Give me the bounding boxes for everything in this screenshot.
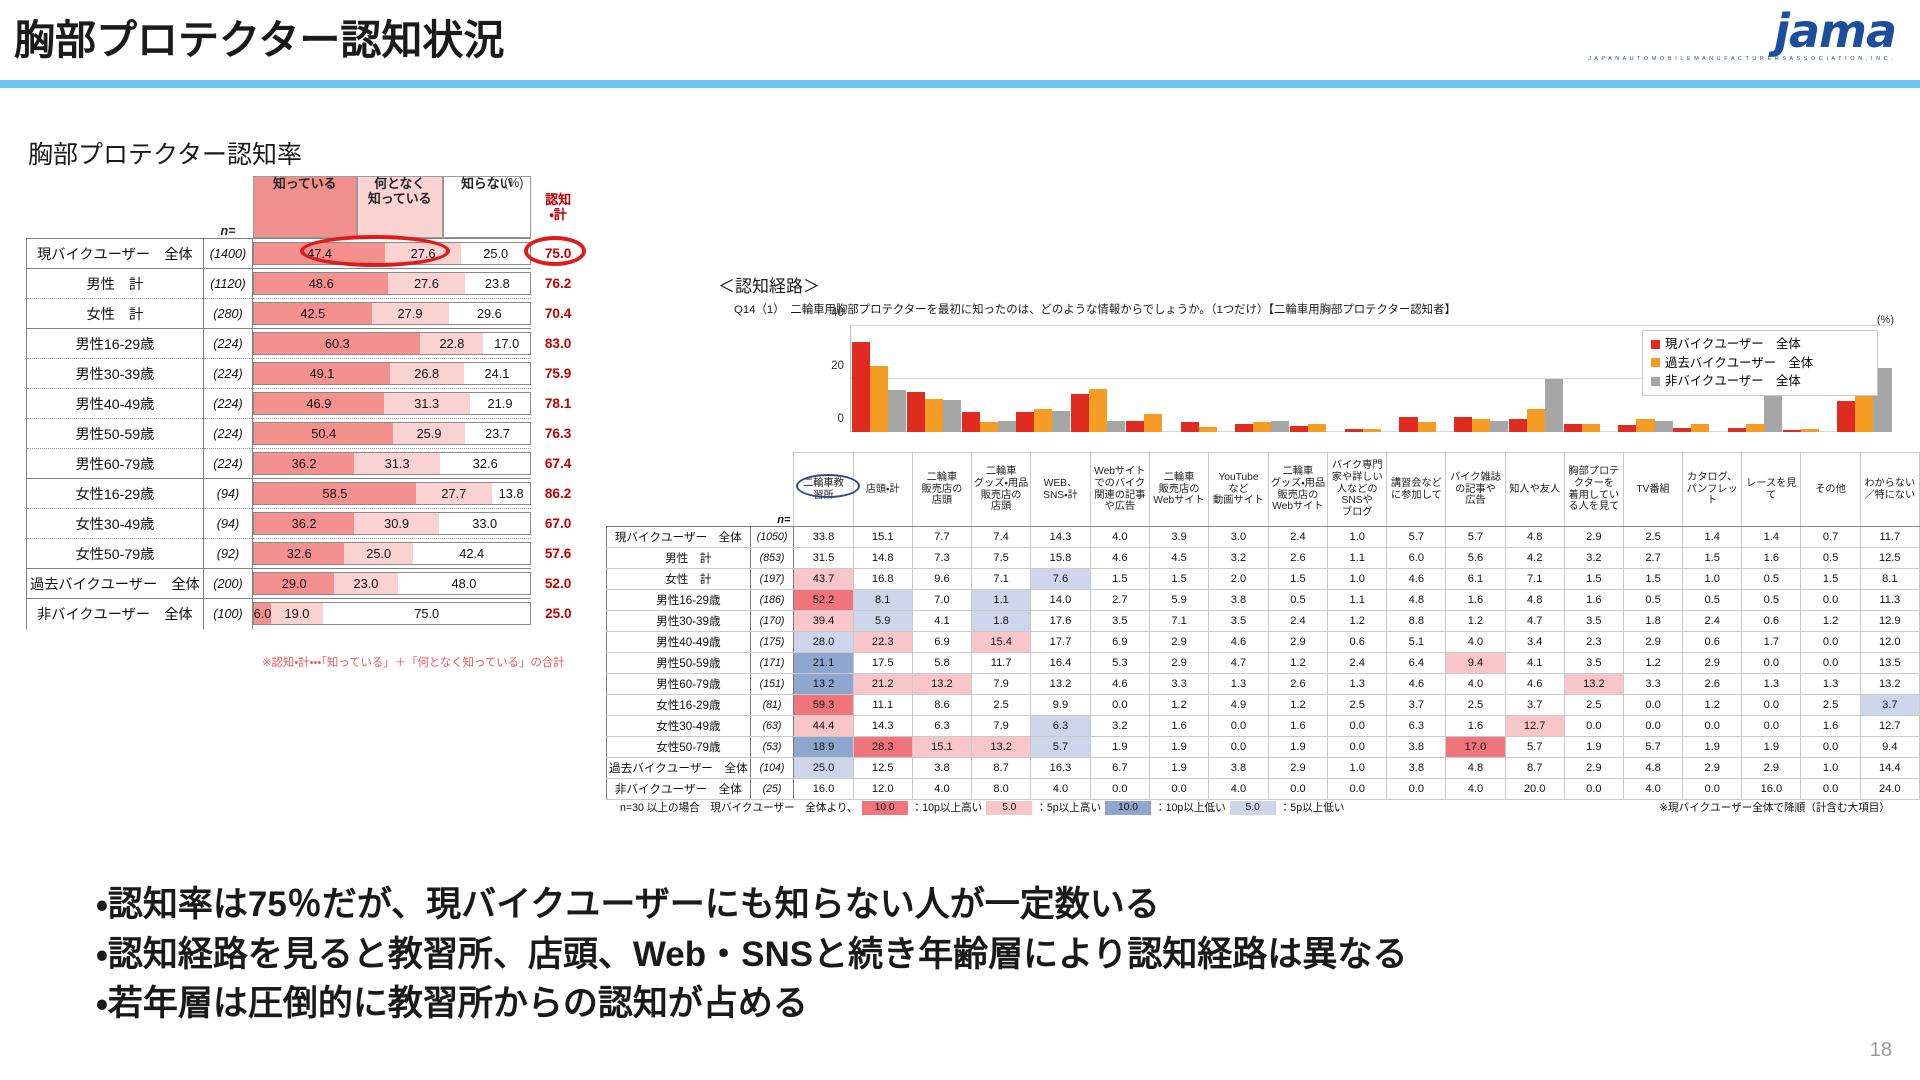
row-label: 男性30-39歳 — [27, 359, 204, 389]
row-sample-size: (1120) — [203, 269, 252, 299]
matrix-body: 現バイクユーザー 全体(1050)33.815.17.77.414.34.03.… — [607, 527, 1920, 800]
matrix-cell: 13.2 — [794, 674, 853, 695]
matrix-cell: 4.0 — [1446, 779, 1505, 800]
matrix-cell: 7.5 — [972, 548, 1031, 569]
title-divider — [0, 80, 1920, 88]
matrix-cell: 0.0 — [1742, 695, 1801, 716]
matrix-cell: 3.3 — [1149, 674, 1208, 695]
matrix-row-sample-size: (151) — [750, 674, 794, 695]
summary-bullet: ・若年層は圧倒的に教習所からの認知が占める — [96, 979, 1856, 1029]
matrix-row-sample-size: (171) — [750, 653, 794, 674]
matrix-cell: 1.8 — [972, 611, 1031, 632]
matrix-cell: 7.1 — [972, 569, 1031, 590]
matrix-cell: 5.1 — [1387, 632, 1446, 653]
matrix-cell: 0.5 — [1801, 548, 1860, 569]
chart-bar-1 — [1089, 389, 1107, 432]
matrix-cell: 59.3 — [794, 695, 853, 716]
matrix-cell: 8.0 — [972, 779, 1031, 800]
matrix-cell: 4.1 — [1505, 653, 1564, 674]
awareness-rate-row: 男性 計(1120)48.627.623.876.2 — [27, 269, 586, 299]
legend-item: 過去バイクユーザー 全体 — [1651, 354, 1871, 373]
chart-bar-1 — [1253, 422, 1271, 432]
matrix-cell: 1.0 — [1328, 569, 1387, 590]
matrix-cell: 4.8 — [1505, 527, 1564, 548]
awareness-rate-row: 女性50-79歳(92)32.625.042.457.6 — [27, 539, 586, 569]
bar-segment-dont: 33.0 — [439, 513, 530, 534]
matrix-cell: 1.6 — [1268, 716, 1327, 737]
matrix-cell: 4.8 — [1623, 758, 1682, 779]
row-sample-size: (224) — [203, 359, 252, 389]
matrix-row-sample-size: (25) — [750, 779, 794, 800]
highlight-ellipse-matrix — [796, 474, 860, 498]
awareness-rate-table-panel: (%) n= 知っている 何となく 知っている 知らない 認知 — [26, 176, 586, 629]
row-stacked-bar: 58.527.713.8 — [253, 479, 532, 509]
matrix-cell: 2.5 — [1801, 695, 1860, 716]
matrix-cell: 3.8 — [1209, 758, 1269, 779]
matrix-cell: 2.9 — [1268, 632, 1327, 653]
matrix-cell: 15.8 — [1031, 548, 1091, 569]
matrix-cell: 3.3 — [1623, 674, 1682, 695]
matrix-cell: 1.0 — [1683, 569, 1742, 590]
footnote-chip-minus10: 10.0 — [1105, 801, 1151, 815]
matrix-row: 女性30-49歳(63)44.414.36.37.96.33.21.60.01.… — [607, 716, 1920, 737]
chart-bar-2 — [1655, 421, 1673, 432]
matrix-column-header: レースを見て — [1742, 453, 1801, 527]
bar-segment-vague: 31.3 — [354, 453, 440, 474]
matrix-cell: 31.5 — [794, 548, 853, 569]
row-stacked-bar: 42.527.929.6 — [253, 299, 532, 329]
bar-segment-vague: 27.6 — [388, 273, 464, 294]
matrix-cell: 1.1 — [972, 590, 1031, 611]
matrix-cell: 0.0 — [1742, 653, 1801, 674]
chart-bar-0 — [1235, 424, 1253, 432]
footnote-label-minus10: ：10p以上低い — [1155, 800, 1226, 815]
chart-bar-2 — [1764, 390, 1782, 432]
matrix-cell: 4.6 — [1090, 674, 1149, 695]
chart-bar-0 — [1837, 401, 1855, 432]
chart-bar-0 — [1564, 424, 1582, 432]
row-sample-size: (92) — [203, 539, 252, 569]
bar-segment-know: 50.4 — [254, 423, 393, 444]
awareness-rate-row: 女性 計(280)42.527.929.670.4 — [27, 299, 586, 329]
row-awareness-total: 25.0 — [531, 599, 585, 629]
chart-bar-1 — [870, 366, 888, 432]
chart-bar-0 — [1345, 429, 1363, 432]
matrix-cell: 6.9 — [912, 632, 971, 653]
bar-segment-dont: 13.8 — [492, 483, 530, 504]
chart-bar-0 — [907, 392, 925, 432]
matrix-cell: 2.9 — [1683, 758, 1742, 779]
matrix-cell: 1.6 — [1149, 716, 1208, 737]
chart-bar-group — [1563, 326, 1618, 432]
matrix-cell: 11.7 — [972, 653, 1031, 674]
matrix-row-label: 過去バイクユーザー 全体 — [607, 758, 751, 779]
chart-bar-0 — [1071, 394, 1089, 432]
matrix-column-header: バイク雑誌の記事や広告 — [1446, 453, 1505, 527]
chart-bar-2 — [1107, 421, 1125, 432]
matrix-cell: 1.2 — [1623, 653, 1682, 674]
bar-segment-dont: 24.1 — [464, 363, 531, 384]
row-sample-size: (224) — [203, 389, 252, 419]
header-vague-line1: 何となく — [374, 176, 425, 191]
matrix-cell: 0.6 — [1328, 632, 1387, 653]
matrix-cell: 2.5 — [1446, 695, 1505, 716]
matrix-row: 過去バイクユーザー 全体(104)25.012.53.88.716.36.71.… — [607, 758, 1920, 779]
matrix-cell: 6.9 — [1090, 632, 1149, 653]
matrix-cell: 0.0 — [1090, 695, 1149, 716]
row-stacked-bar: 32.625.042.4 — [253, 539, 532, 569]
row-label: 女性 計 — [27, 299, 204, 329]
matrix-cell: 1.9 — [1268, 737, 1327, 758]
matrix-cell: 5.9 — [1149, 590, 1208, 611]
chart-bar-1 — [1801, 429, 1819, 432]
row-stacked-bar: 6.019.075.0 — [253, 599, 532, 629]
matrix-cell: 52.2 — [794, 590, 853, 611]
matrix-cell: 3.0 — [1209, 527, 1269, 548]
legend-swatch-icon — [1651, 377, 1660, 386]
chart-bar-2 — [1545, 379, 1563, 432]
matrix-cell: 17.7 — [1031, 632, 1091, 653]
matrix-cell: 6.4 — [1387, 653, 1446, 674]
summary-bullet: ・認知経路を見ると教習所、店頭、Web・SNSと続き年齢層により認知経路は異なる — [96, 930, 1856, 980]
matrix-cell: 13.2 — [1031, 674, 1091, 695]
matrix-cell: 4.6 — [1505, 674, 1564, 695]
matrix-cell: 0.0 — [1328, 779, 1387, 800]
bar-segment-dont: 17.0 — [483, 333, 530, 354]
matrix-cell: 1.9 — [1149, 737, 1208, 758]
chart-bar-2 — [943, 400, 961, 432]
chart-bar-1 — [1691, 424, 1709, 432]
matrix-cell: 0.0 — [1623, 716, 1682, 737]
matrix-cell: 6.1 — [1446, 569, 1505, 590]
matrix-cell: 3.5 — [1564, 653, 1623, 674]
header-n: n= — [203, 176, 252, 239]
legend-item: 現バイクユーザー 全体 — [1651, 335, 1871, 354]
matrix-cell: 6.3 — [1031, 716, 1091, 737]
bar-segment-know: 42.5 — [254, 303, 371, 324]
row-awareness-total: 76.2 — [531, 269, 585, 299]
matrix-cell: 12.5 — [853, 758, 912, 779]
matrix-cell: 0.0 — [1328, 716, 1387, 737]
matrix-cell: 3.9 — [1149, 527, 1208, 548]
chart-bar-group — [960, 326, 1015, 432]
matrix-cell: 5.7 — [1446, 527, 1505, 548]
matrix-cell: 7.1 — [1149, 611, 1208, 632]
matrix-row-sample-size: (197) — [750, 569, 794, 590]
chart-y-tick-label: 20 — [831, 359, 844, 372]
matrix-row: 男性60-79歳(151)13.221.213.27.913.24.63.31.… — [607, 674, 1920, 695]
matrix-cell: 44.4 — [794, 716, 853, 737]
matrix-cell: 3.4 — [1505, 632, 1564, 653]
row-awareness-total: 75.9 — [531, 359, 585, 389]
matrix-column-header: YouTubeなど動画サイト — [1209, 453, 1269, 527]
matrix-cell: 8.8 — [1387, 611, 1446, 632]
row-awareness-total: 52.0 — [531, 569, 585, 599]
matrix-cell: 1.2 — [1446, 611, 1505, 632]
bar-segment-know: 49.1 — [254, 363, 390, 384]
matrix-cell: 5.7 — [1505, 737, 1564, 758]
row-awareness-total: 67.4 — [531, 449, 585, 479]
matrix-cell: 0.0 — [1564, 716, 1623, 737]
matrix-cell: 2.9 — [1564, 758, 1623, 779]
chart-bar-0 — [1181, 422, 1199, 432]
matrix-cell: 2.6 — [1268, 548, 1327, 569]
matrix-cell: 1.5 — [1090, 569, 1149, 590]
header-know: 知っている — [253, 176, 357, 238]
matrix-row-label: 男性50-59歳 — [607, 653, 751, 674]
header-bars: 知っている 何となく 知っている 知らない — [253, 176, 532, 239]
matrix-cell: 1.5 — [1623, 569, 1682, 590]
header-blank-label — [27, 176, 204, 239]
chart-bar-1 — [1199, 427, 1217, 432]
matrix-cell: 4.8 — [1387, 590, 1446, 611]
matrix-cell: 5.7 — [1387, 527, 1446, 548]
matrix-row: 女性50-79歳(53)18.928.315.113.25.71.91.90.0… — [607, 737, 1920, 758]
awareness-route-heading: ＜認知経路＞ — [718, 272, 1896, 297]
header-awareness-total-line1: 認知 — [545, 192, 571, 207]
matrix-cell: 1.2 — [1801, 611, 1860, 632]
matrix-cell: 4.0 — [1090, 527, 1149, 548]
matrix-cell: 4.6 — [1387, 674, 1446, 695]
jama-logo-subtitle: J A P A N A U T O M O B I L E M A N U F … — [1588, 56, 1894, 62]
matrix-cell: 9.4 — [1446, 653, 1505, 674]
matrix-cell: 4.0 — [1446, 674, 1505, 695]
row-sample-size: (224) — [203, 329, 252, 359]
matrix-cell: 3.5 — [1564, 611, 1623, 632]
matrix-cell: 3.5 — [1209, 611, 1269, 632]
matrix-cell: 2.4 — [1268, 611, 1327, 632]
matrix-column-header: 店頭・計 — [853, 453, 912, 527]
matrix-row-label: 現バイクユーザー 全体 — [607, 527, 751, 548]
row-awareness-total: 83.0 — [531, 329, 585, 359]
chart-bar-1 — [1636, 419, 1654, 432]
chart-y-tick-label: 0 — [838, 412, 844, 425]
row-sample-size: (200) — [203, 569, 252, 599]
matrix-cell: 2.6 — [1268, 674, 1327, 695]
matrix-cell: 13.2 — [912, 674, 971, 695]
matrix-cell: 3.2 — [1564, 548, 1623, 569]
matrix-row-sample-size: (53) — [750, 737, 794, 758]
matrix-row: 非バイクユーザー 全体(25)16.012.04.08.04.00.00.04.… — [607, 779, 1920, 800]
matrix-cell: 14.0 — [1031, 590, 1091, 611]
matrix-row-label: 女性16-29歳 — [607, 695, 751, 716]
matrix-footnote: n=30 以上の場合 現バイクユーザー 全体より、 10.0 ：10p以上高い … — [620, 800, 1890, 815]
matrix-cell: 7.1 — [1505, 569, 1564, 590]
chart-bar-0 — [1673, 428, 1691, 432]
matrix-row-label: 男性40-49歳 — [607, 632, 751, 653]
matrix-cell: 4.6 — [1090, 548, 1149, 569]
matrix-cell: 1.2 — [1328, 611, 1387, 632]
matrix-cell: 0.0 — [1801, 590, 1860, 611]
chart-bar-0 — [1783, 430, 1801, 432]
matrix-cell: 4.0 — [1623, 779, 1682, 800]
matrix-cell: 2.4 — [1268, 527, 1327, 548]
bar-segment-vague: 19.0 — [271, 603, 323, 624]
chart-bar-group — [1344, 326, 1399, 432]
matrix-column-header: Webサイトでのバイク関連の記事や広告 — [1090, 453, 1149, 527]
matrix-cell: 2.9 — [1149, 632, 1208, 653]
chart-bar-group — [1398, 326, 1453, 432]
matrix-cell: 14.4 — [1860, 758, 1919, 779]
matrix-row-label: 非バイクユーザー 全体 — [607, 779, 751, 800]
matrix-column-header: 二輪車グッズ・用品販売店の店頭 — [972, 453, 1031, 527]
matrix-cell: 1.2 — [1149, 695, 1208, 716]
matrix-row-sample-size: (104) — [750, 758, 794, 779]
bar-segment-vague: 30.9 — [354, 513, 439, 534]
matrix-cell: 2.9 — [1623, 632, 1682, 653]
matrix-cell: 2.5 — [972, 695, 1031, 716]
matrix-cell: 1.6 — [1446, 716, 1505, 737]
matrix-cell: 8.1 — [853, 590, 912, 611]
matrix-cell: 6.7 — [1090, 758, 1149, 779]
matrix-cell: 3.2 — [1209, 548, 1269, 569]
matrix-cell: 1.5 — [1149, 569, 1208, 590]
bar-segment-vague: 22.8 — [420, 333, 483, 354]
matrix-cell: 1.0 — [1328, 758, 1387, 779]
chart-bar-0 — [1618, 425, 1636, 432]
matrix-cell: 4.0 — [1446, 632, 1505, 653]
matrix-cell: 43.7 — [794, 569, 853, 590]
matrix-cell: 0.0 — [1742, 716, 1801, 737]
bar-segment-vague: 27.9 — [372, 303, 449, 324]
matrix-cell: 8.1 — [1860, 569, 1919, 590]
row-label: 男性60-79歳 — [27, 449, 204, 479]
matrix-row-label: 男性60-79歳 — [607, 674, 751, 695]
matrix-cell: 3.8 — [1387, 737, 1446, 758]
matrix-cell: 12.9 — [1860, 611, 1919, 632]
legend-label: 過去バイクユーザー 全体 — [1665, 354, 1813, 373]
matrix-column-header: 講習会などに参加して — [1387, 453, 1446, 527]
matrix-cell: 13.5 — [1860, 653, 1919, 674]
chart-y-tick-label: 40 — [831, 306, 844, 319]
matrix-row: 現バイクユーザー 全体(1050)33.815.17.77.414.34.03.… — [607, 527, 1920, 548]
bar-segment-vague: 27.6 — [385, 243, 461, 264]
matrix-cell: 5.9 — [853, 611, 912, 632]
matrix-cell: 12.0 — [1860, 632, 1919, 653]
matrix-cell: 22.3 — [853, 632, 912, 653]
matrix-cell: 16.3 — [1031, 758, 1091, 779]
footnote-label-minus5: ：5p以上低い — [1280, 800, 1345, 815]
chart-bar-group — [1179, 326, 1234, 432]
matrix-cell: 1.1 — [1328, 548, 1387, 569]
matrix-cell: 6.3 — [912, 716, 971, 737]
matrix-cell: 9.9 — [1031, 695, 1091, 716]
matrix-column-header: 二輪車販売店の店頭 — [912, 453, 971, 527]
matrix-cell: 0.0 — [1801, 779, 1860, 800]
matrix-cell: 1.7 — [1742, 632, 1801, 653]
bar-segment-know: 60.3 — [254, 333, 420, 354]
matrix-cell: 1.6 — [1446, 590, 1505, 611]
matrix-column-header: わからない／特にない — [1860, 453, 1919, 527]
chart-bar-group — [1015, 326, 1070, 432]
row-stacked-bar: 29.023.048.0 — [253, 569, 532, 599]
matrix-cell: 16.4 — [1031, 653, 1091, 674]
bar-segment-know: 46.9 — [254, 393, 383, 414]
row-label: 男性 計 — [27, 269, 204, 299]
chart-bar-1 — [980, 422, 998, 432]
row-label: 男性40-49歳 — [27, 389, 204, 419]
matrix-cell: 0.6 — [1683, 632, 1742, 653]
row-awareness-total: 75.0 — [531, 239, 585, 269]
row-sample-size: (280) — [203, 299, 252, 329]
row-stacked-bar: 36.231.332.6 — [253, 449, 532, 479]
matrix-cell: 1.3 — [1801, 674, 1860, 695]
awareness-rate-row: 男性50-59歳(224)50.425.923.776.3 — [27, 419, 586, 449]
awareness-rate-row: 女性30-49歳(94)36.230.933.067.0 — [27, 509, 586, 539]
row-awareness-total: 86.2 — [531, 479, 585, 509]
awareness-rate-table-body: 現バイクユーザー 全体(1400)47.427.625.075.0男性 計(11… — [27, 239, 586, 629]
matrix-row: 男性40-49歳(175)28.022.36.915.417.76.92.94.… — [607, 632, 1920, 653]
page-number: 18 — [1870, 1039, 1892, 1062]
matrix-cell: 1.2 — [1268, 695, 1327, 716]
row-sample-size: (224) — [203, 449, 252, 479]
matrix-cell: 0.0 — [1268, 779, 1327, 800]
matrix-cell: 0.0 — [1209, 737, 1269, 758]
matrix-cell: 4.7 — [1209, 653, 1269, 674]
chart-legend: 現バイクユーザー 全体過去バイクユーザー 全体非バイクユーザー 全体 — [1642, 330, 1878, 396]
matrix-cell: 8.7 — [972, 758, 1031, 779]
matrix-column-header: その他 — [1801, 453, 1860, 527]
awareness-rate-row: 男性60-79歳(224)36.231.332.667.4 — [27, 449, 586, 479]
bar-segment-know: 36.2 — [254, 453, 354, 474]
matrix-cell: 7.4 — [972, 527, 1031, 548]
bar-segment-vague: 31.3 — [384, 393, 470, 414]
header-vague-line2: 知っている — [368, 191, 431, 206]
matrix-cell: 16.0 — [794, 779, 853, 800]
matrix-cell: 7.7 — [912, 527, 971, 548]
row-stacked-bar: 50.425.923.7 — [253, 419, 532, 449]
matrix-cell: 1.4 — [1683, 527, 1742, 548]
matrix-cell: 0.0 — [1623, 695, 1682, 716]
matrix-cell: 39.4 — [794, 611, 853, 632]
matrix-cell: 5.8 — [912, 653, 971, 674]
bar-segment-dont: 29.6 — [449, 303, 531, 324]
footnote-label-plus5: ：5p以上高い — [1036, 800, 1101, 815]
footnote-prefix: n=30 以上の場合 現バイクユーザー 全体より、 — [620, 800, 858, 815]
chart-bar-1 — [1308, 424, 1326, 432]
bar-segment-vague: 25.9 — [393, 423, 464, 444]
chart-bar-group — [1289, 326, 1344, 432]
matrix-cell: 1.3 — [1742, 674, 1801, 695]
matrix-row-sample-size: (63) — [750, 716, 794, 737]
matrix-row-label: 女性50-79歳 — [607, 737, 751, 758]
matrix-cell: 3.8 — [1209, 590, 1269, 611]
matrix-cell: 4.2 — [1505, 548, 1564, 569]
bar-segment-know: 58.5 — [254, 483, 415, 504]
matrix-row-label: 女性30-49歳 — [607, 716, 751, 737]
matrix-cell: 0.0 — [1683, 716, 1742, 737]
matrix-cell: 20.0 — [1505, 779, 1564, 800]
matrix-cell: 1.9 — [1149, 758, 1208, 779]
bar-segment-know: 48.6 — [254, 273, 388, 294]
matrix-cell: 0.0 — [1564, 779, 1623, 800]
matrix-cell: 1.5 — [1801, 569, 1860, 590]
matrix-cell: 17.0 — [1446, 737, 1505, 758]
row-label: 男性16-29歳 — [27, 329, 204, 359]
chart-bar-1 — [925, 399, 943, 432]
summary-bullets: ・認知率は75％だが、現バイクユーザーにも知らない人が一定数いる・認知経路を見る… — [96, 880, 1856, 1029]
row-stacked-bar: 46.931.321.9 — [253, 389, 532, 419]
matrix-cell: 1.3 — [1209, 674, 1269, 695]
matrix-row: 男性30-39歳(170)39.45.94.11.817.63.57.13.52… — [607, 611, 1920, 632]
matrix-cell: 4.0 — [912, 779, 971, 800]
matrix-cell: 0.5 — [1623, 590, 1682, 611]
matrix-row-sample-size: (1050) — [750, 527, 794, 548]
jama-logo: jama J A P A N A U T O M O B I L E M A N… — [1696, 8, 1896, 74]
header-vague: 何となく 知っている — [357, 176, 443, 238]
table-header-row: n= 知っている 何となく 知っている 知らない 認知 ・計 — [27, 176, 586, 239]
awareness-rate-row: 過去バイクユーザー 全体(200)29.023.048.052.0 — [27, 569, 586, 599]
